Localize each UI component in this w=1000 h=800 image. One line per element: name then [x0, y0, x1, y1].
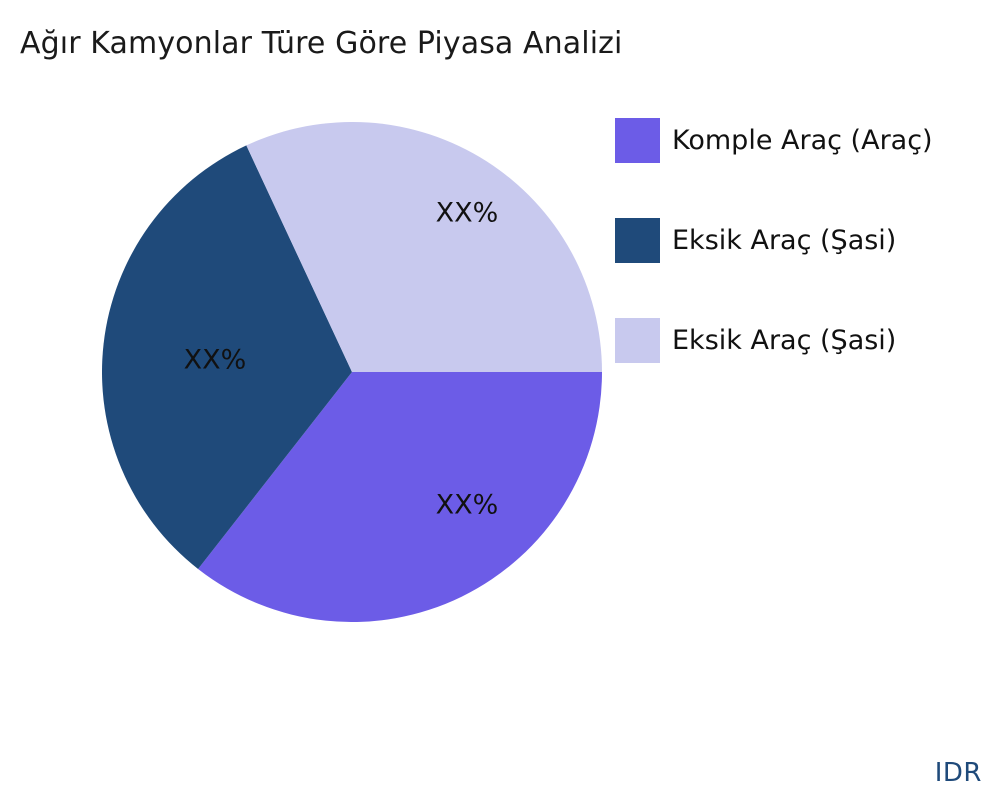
pie-plot-area: XX% XX% XX% [102, 122, 602, 622]
legend-item-label: Eksik Araç (Şasi) [672, 318, 896, 363]
legend-item-label: Komple Araç (Araç) [672, 118, 933, 163]
legend-swatch-icon [615, 218, 660, 263]
legend-item-komple-arac[interactable]: Komple Araç (Araç) [615, 118, 985, 218]
pie-svg [102, 122, 602, 622]
legend-swatch-icon [615, 118, 660, 163]
legend-item-eksik-arac-1[interactable]: Eksik Araç (Şasi) [615, 218, 985, 318]
pie-chart-figure: Ağır Kamyonlar Türe Göre Piyasa Analizi … [0, 0, 1000, 800]
watermark-idr: IDR [935, 758, 982, 788]
legend-item-eksik-arac-2[interactable]: Eksik Araç (Şasi) [615, 318, 985, 418]
legend-swatch-icon [615, 318, 660, 363]
legend-item-label: Eksik Araç (Şasi) [672, 218, 896, 263]
legend: Komple Araç (Araç) Eksik Araç (Şasi) Eks… [615, 118, 985, 418]
chart-title: Ağır Kamyonlar Türe Göre Piyasa Analizi [20, 26, 622, 61]
pie-slice-group [102, 122, 602, 622]
